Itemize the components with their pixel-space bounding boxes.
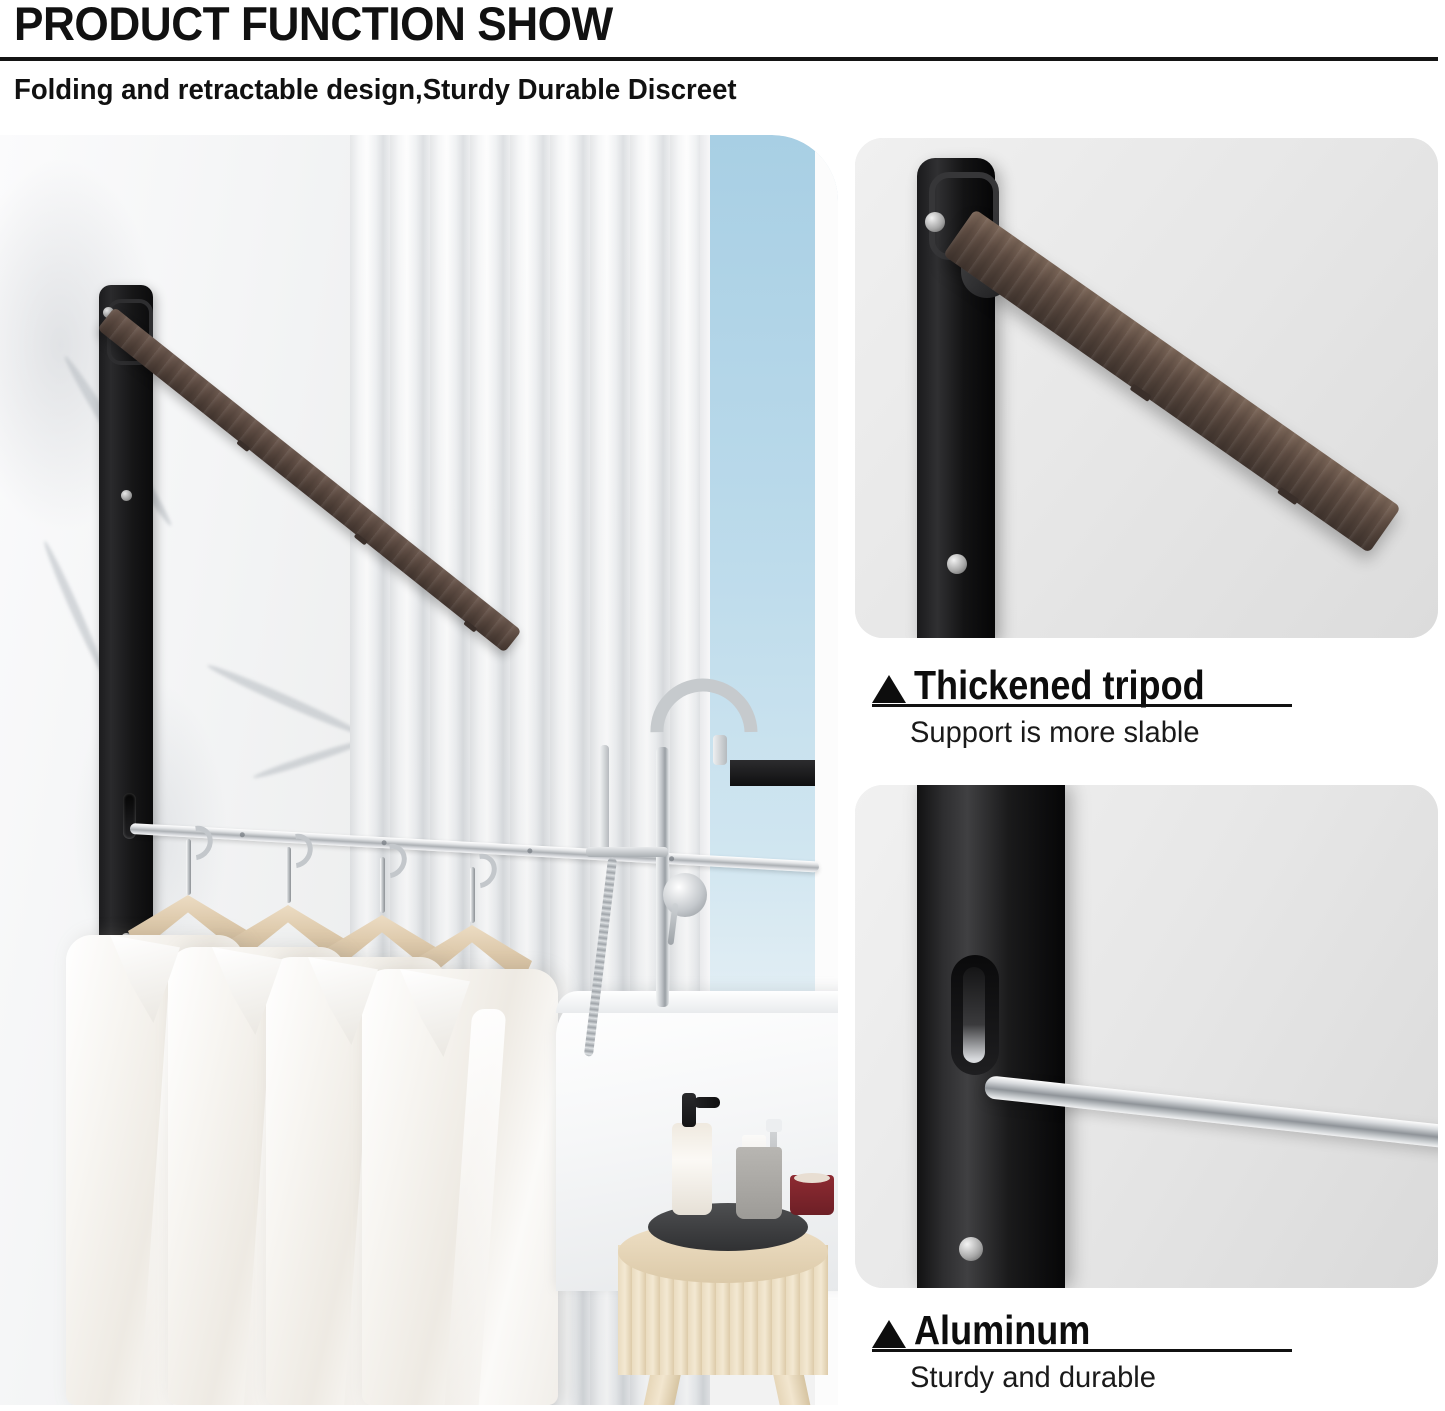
bracket-screw [121,490,132,501]
rail-screw [925,212,945,232]
page-subtitle: Folding and retractable design,Sturdy Du… [14,74,737,107]
toothbrush-head [766,1119,782,1132]
rail-screw [959,1237,983,1261]
hanger-hook [372,843,398,913]
wall-bracket [99,285,153,985]
toothbrush-cup [736,1147,782,1219]
faucet-standpipe [656,747,669,1007]
hanger-hook [278,833,304,903]
rod-hole [669,856,674,861]
title-divider [0,57,1438,61]
caption-head: Thickened tripod [868,655,1445,707]
faucet-spout [713,735,727,765]
caption-tripod: Thickened tripod Support is more slable [868,655,1445,750]
feature-subtitle: Sturdy and durable [910,1361,1442,1395]
triangle-bullet-icon [872,1320,906,1348]
detail-panel-aluminum [855,785,1438,1288]
page-title: PRODUCT FUNCTION SHOW [14,0,613,51]
feature-title: Thickened tripod [914,662,1205,709]
caption-aluminum: Aluminum Sturdy and durable [868,1300,1445,1395]
rod-slot [963,967,985,1063]
soap-dispenser [672,1123,712,1215]
candle-wax [794,1173,830,1183]
feature-subtitle: Support is more slable [910,716,1442,750]
caption-underline [872,1349,1292,1352]
feature-title: Aluminum [914,1307,1090,1354]
soap-pump [682,1093,696,1127]
rail-screw [947,554,967,574]
hanger-hook [462,853,488,923]
page-header: PRODUCT FUNCTION SHOW Folding and retrac… [0,0,1445,135]
hanging-shirt [362,969,558,1405]
rod-hole [240,832,245,837]
caption-head: Aluminum [868,1300,1445,1352]
soap-nozzle [694,1097,720,1108]
triangle-bullet-icon [872,675,906,703]
rod-hole [527,848,532,853]
handheld-shower-wand [600,745,609,855]
shower-bracket [586,847,668,857]
hanger-hook [178,825,204,895]
main-product-photo [0,135,838,1405]
caption-underline [872,704,1292,707]
faucet-handle [663,873,707,917]
detail-panel-tripod [855,138,1438,638]
shirt-fold [444,1009,507,1405]
